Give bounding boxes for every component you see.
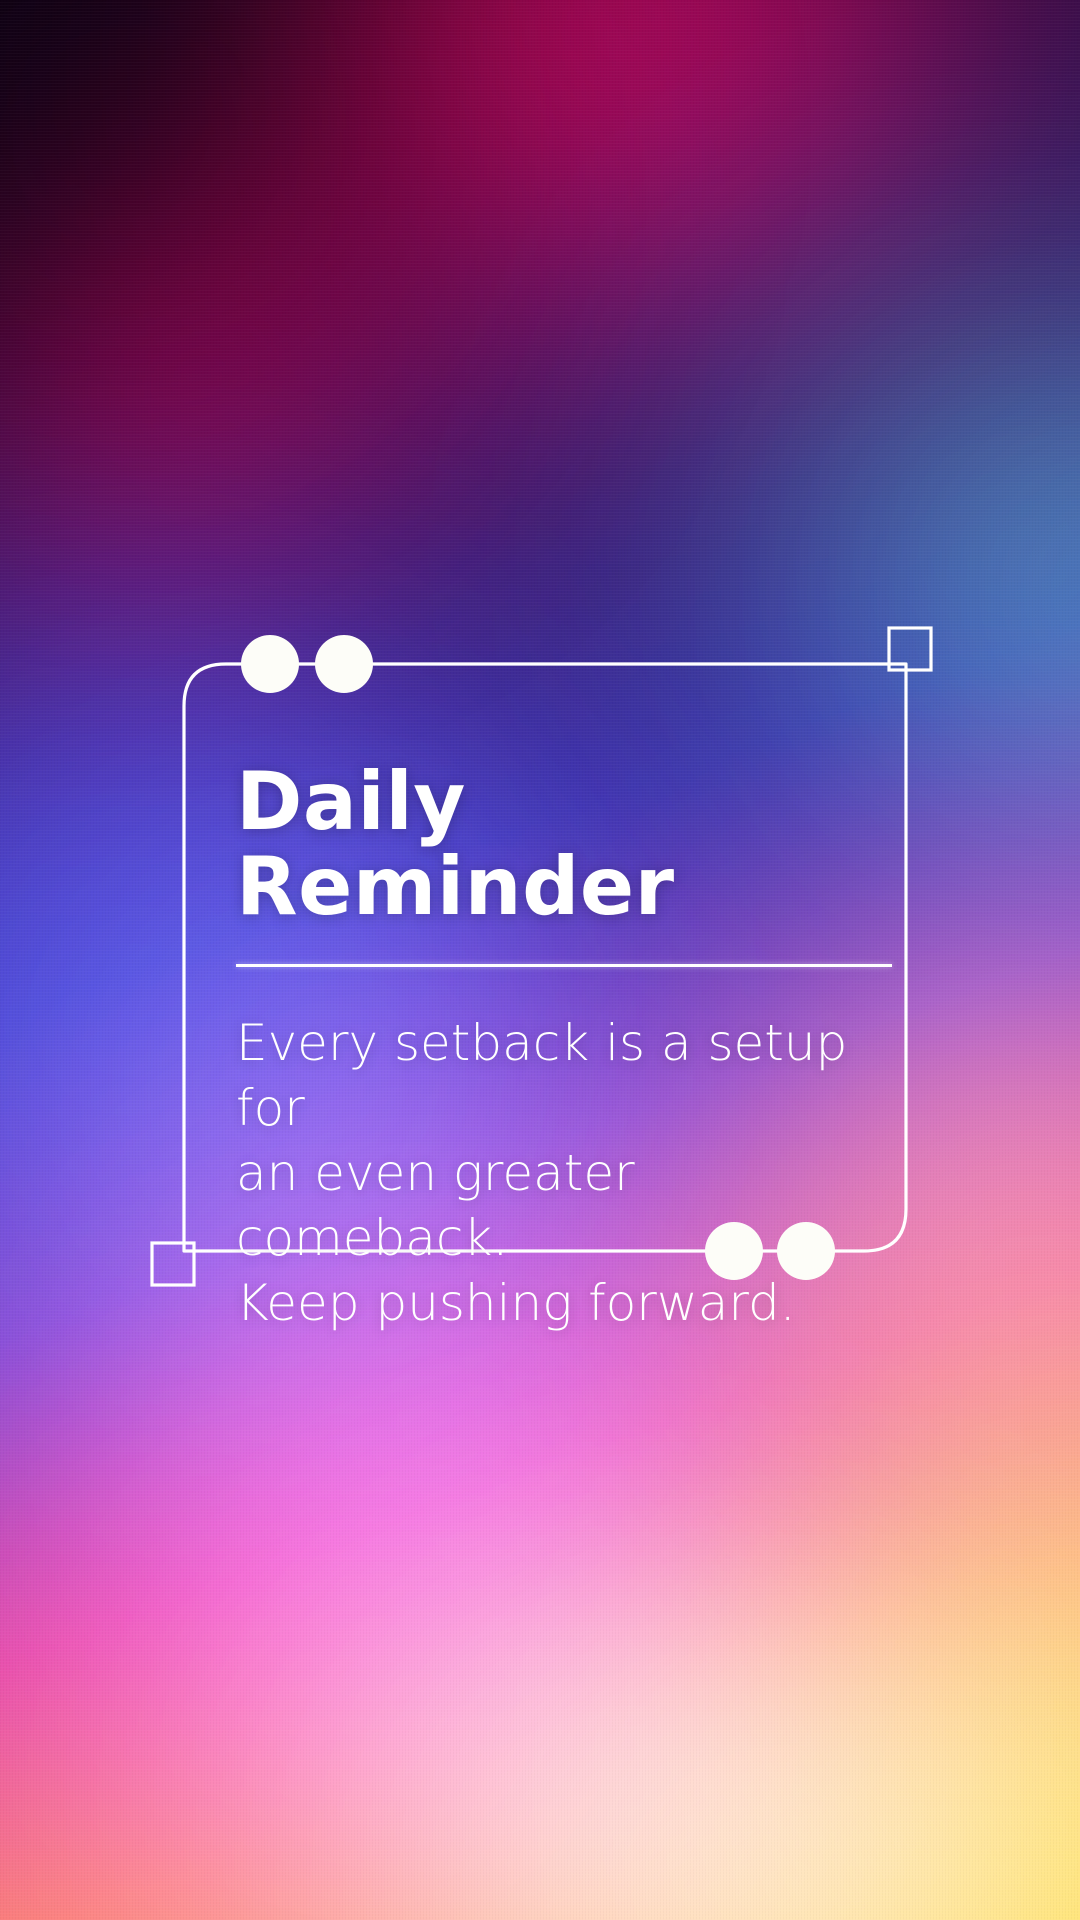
poster-body-text: Every setback is a setup for an even gre…	[236, 1011, 896, 1336]
title-divider-rule	[236, 964, 892, 967]
dot-top-left-inner	[241, 635, 299, 693]
poster-canvas: Daily Reminder Every setback is a setup …	[0, 0, 1080, 1920]
poster-title: Daily Reminder	[236, 760, 896, 930]
poster-text-block: Daily Reminder Every setback is a setup …	[236, 760, 896, 1336]
dot-top-left-outer	[315, 635, 373, 693]
